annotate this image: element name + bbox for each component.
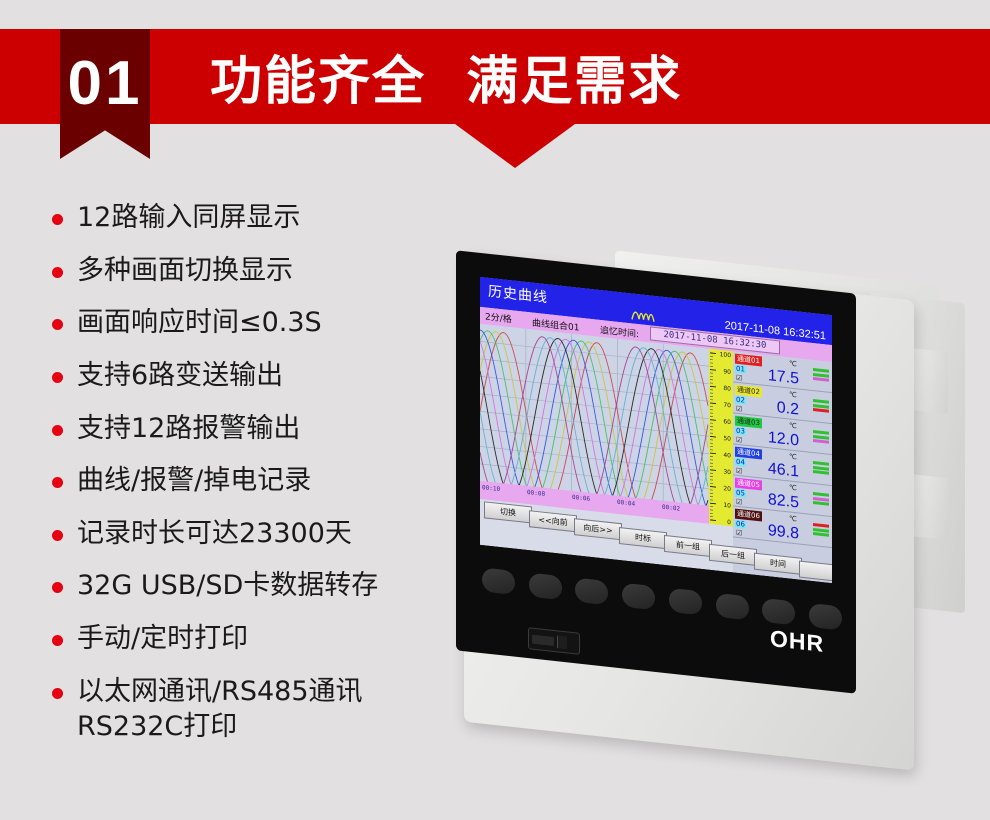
- svg-text:70: 70: [723, 402, 731, 410]
- list-item: 支持12路报警输出: [52, 411, 472, 447]
- device-mount-clip-bottom: [910, 474, 948, 540]
- channel-unit: ℃: [789, 452, 797, 461]
- bullet-dot-icon: [52, 425, 63, 436]
- list-item: 记录时长可达23300天: [52, 516, 472, 552]
- x-tick-label: 00:04: [617, 499, 635, 508]
- hardware-button[interactable]: [482, 567, 515, 595]
- banner-notch: [455, 124, 575, 168]
- channel-unit: ℃: [789, 390, 797, 399]
- channel-index: 03: [735, 427, 746, 436]
- channel-unit: ℃: [789, 514, 797, 523]
- feature-label: 32G USB/SD卡数据转存: [77, 568, 378, 604]
- bar-segment: [813, 501, 829, 506]
- device-mount-clip-top: [910, 348, 948, 414]
- feature-label: 支持6路变送输出: [77, 358, 283, 394]
- channel-value: 99.8: [747, 521, 799, 543]
- list-item: 12路输入同屏显示: [52, 200, 472, 236]
- brand-logo: OHR: [770, 625, 824, 658]
- list-item: 以太网通讯/RS485通讯 RS232C打印: [52, 674, 472, 745]
- channel-bargraph: [813, 461, 829, 476]
- channel-index: 04: [735, 458, 746, 467]
- hardware-button[interactable]: [669, 588, 702, 616]
- bar-segment: [813, 532, 829, 537]
- lcd-screen[interactable]: 历史曲线 2017-11-08 16:32:51 2分/格 曲线组合01 追忆时…: [480, 277, 832, 583]
- svg-text:60: 60: [723, 418, 731, 426]
- channel-checkbox[interactable]: ☑: [736, 529, 742, 538]
- feature-label: 手动/定时打印: [77, 621, 248, 657]
- hardware-button[interactable]: [716, 593, 749, 621]
- soft-button[interactable]: 时标: [619, 527, 667, 549]
- bar-segment: [813, 439, 829, 444]
- y-axis-ticks: 0102030405060708090100: [709, 349, 733, 527]
- hardware-button[interactable]: [762, 598, 795, 626]
- list-item: 曲线/报警/掉电记录: [52, 463, 472, 499]
- channel-bargraph: [813, 430, 829, 445]
- channel-checkbox[interactable]: ☑: [736, 436, 742, 445]
- soft-button[interactable]: 向后>>: [574, 518, 622, 540]
- channel-unit: ℃: [789, 483, 797, 492]
- bullet-dot-icon: [52, 582, 63, 593]
- svg-text:100: 100: [720, 351, 732, 359]
- svg-text:50: 50: [723, 435, 731, 443]
- feature-list: 12路输入同屏显示 多种画面切换显示 画面响应时间≤0.3S 支持6路变送输出 …: [52, 200, 472, 762]
- channel-checkbox[interactable]: ☑: [736, 467, 742, 476]
- channel-bargraph: [813, 399, 829, 414]
- list-item: 支持6路变送输出: [52, 358, 472, 394]
- channel-index: 06: [735, 520, 746, 529]
- feature-label: 曲线/报警/掉电记录: [77, 463, 311, 499]
- bullet-dot-icon: [52, 635, 63, 646]
- soft-button[interactable]: 前一组: [664, 535, 712, 557]
- channel-unit: ℃: [789, 421, 797, 430]
- feature-label: 画面响应时间≤0.3S: [77, 305, 322, 341]
- paperless-recorder-device: 历史曲线 2017-11-08 16:32:51 2分/格 曲线组合01 追忆时…: [440, 258, 990, 768]
- channel-bargraph: [813, 368, 829, 383]
- svg-text:30: 30: [723, 468, 731, 476]
- channel-index: 02: [735, 396, 746, 405]
- list-item: 32G USB/SD卡数据转存: [52, 568, 472, 604]
- svg-text:90: 90: [723, 368, 731, 376]
- bullet-dot-icon: [52, 372, 63, 383]
- hardware-button[interactable]: [809, 603, 842, 631]
- chart-y-axis: 0102030405060708090100: [709, 349, 733, 527]
- bullet-dot-icon: [52, 477, 63, 488]
- x-tick-label: 00:08: [527, 489, 545, 498]
- channel-checkbox[interactable]: ☑: [736, 498, 742, 507]
- bullet-dot-icon: [52, 319, 63, 330]
- channel-checkbox[interactable]: ☑: [736, 374, 742, 383]
- feature-label: 多种画面切换显示: [77, 253, 293, 289]
- hardware-button[interactable]: [622, 583, 655, 611]
- time-scale-label: 2分/格: [485, 309, 512, 325]
- bullet-dot-icon: [52, 688, 63, 699]
- channel-unit: ℃: [789, 359, 797, 368]
- channel-bargraph: [813, 492, 829, 507]
- list-item: 手动/定时打印: [52, 621, 472, 657]
- bar-segment: [813, 377, 829, 382]
- svg-text:40: 40: [723, 452, 731, 460]
- feature-label: 以太网通讯/RS485通讯 RS232C打印: [77, 674, 363, 745]
- feature-label: 支持12路报警输出: [77, 411, 300, 447]
- bullet-dot-icon: [52, 530, 63, 541]
- feature-label: 12路输入同屏显示: [77, 200, 300, 236]
- x-tick-label: 00:06: [572, 494, 590, 503]
- bar-segment: [813, 408, 829, 413]
- channel-index: 05: [735, 489, 746, 498]
- bullet-dot-icon: [52, 267, 63, 278]
- banner-title: 功能齐全 满足需求: [210, 29, 682, 124]
- list-item: 多种画面切换显示: [52, 253, 472, 289]
- slot-connector: [557, 635, 567, 649]
- svg-text:20: 20: [723, 485, 731, 493]
- hardware-button[interactable]: [529, 573, 562, 601]
- svg-text:80: 80: [723, 385, 731, 393]
- svg-text:10: 10: [723, 502, 731, 510]
- x-tick-label: 00:10: [482, 484, 500, 493]
- channel-bargraph: [813, 523, 829, 538]
- page-title: 历史曲线: [488, 281, 548, 308]
- slot-contact: [532, 634, 554, 645]
- soft-button[interactable]: <<向前: [529, 510, 577, 532]
- list-item: 画面响应时间≤0.3S: [52, 305, 472, 341]
- hardware-button[interactable]: [575, 578, 608, 606]
- x-tick-label: 00:02: [662, 504, 680, 513]
- section-number: 01: [68, 53, 143, 115]
- bullet-dot-icon: [52, 214, 63, 225]
- section-number-ribbon: 01: [60, 29, 150, 159]
- channel-index: 01: [735, 365, 746, 374]
- promo-page: 01 功能齐全 满足需求 12路输入同屏显示 多种画面切换显示 画面响应时间≤0…: [0, 0, 990, 820]
- feature-label: 记录时长可达23300天: [77, 516, 352, 552]
- soft-button[interactable]: 切换: [484, 501, 532, 523]
- bar-segment: [813, 470, 829, 475]
- wave-logo-icon: [630, 307, 656, 324]
- lcd-content: 历史曲线 2017-11-08 16:32:51 2分/格 曲线组合01 追忆时…: [480, 277, 832, 583]
- channel-checkbox[interactable]: ☑: [736, 405, 742, 414]
